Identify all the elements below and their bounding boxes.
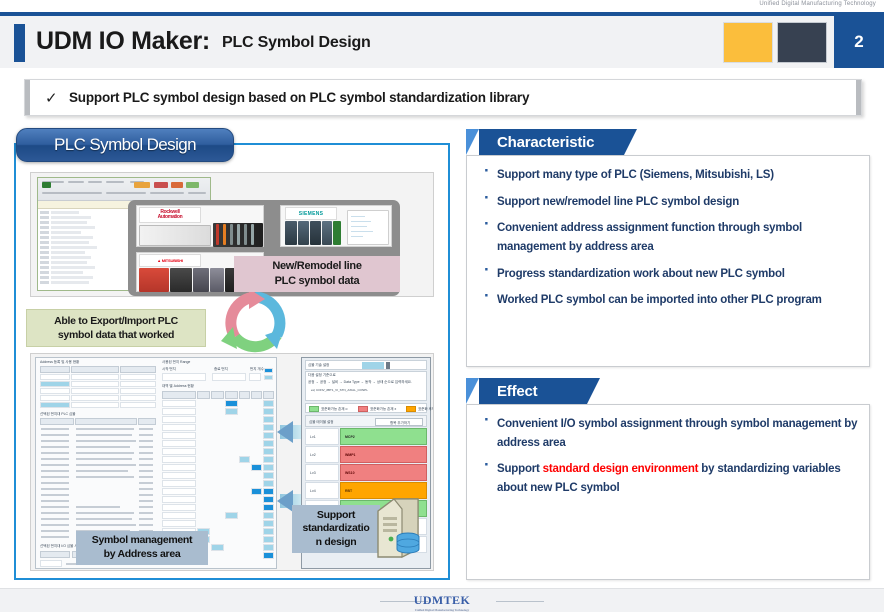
page-title: UDM IO Maker: (36, 27, 210, 56)
footer-logo-text: UDMTEK (414, 593, 470, 607)
check-icon: ✓ (45, 89, 58, 107)
std-row-1: MCP2 (340, 428, 427, 445)
callout-symbol-management-line2: by Address area (104, 548, 181, 562)
effect-item-2-highlight: standard design environment (543, 463, 699, 475)
corporate-tagline: Unified Digital Manufacturing Technology (759, 1, 876, 7)
effect-banner-body: Effect (479, 378, 587, 404)
rockwell-logo: RockwellAutomation (139, 207, 201, 223)
left-panel-badge: PLC Symbol Design (16, 128, 234, 162)
std-row-3: WS10 (340, 464, 427, 481)
characteristic-list: Support many type of PLC (Siemens, Mitsu… (481, 166, 859, 318)
callout-support-standardization: Support standardizatio n design (292, 505, 380, 553)
callout-export-import-line1: Able to Export/Import PLC (54, 314, 178, 328)
vendor-card-rockwell: RockwellAutomation (136, 205, 264, 247)
callout-export-import: Able to Export/Import PLC symbol data th… (26, 309, 206, 347)
left-panel-badge-label: PLC Symbol Design (54, 135, 196, 155)
server-database-icon (372, 497, 424, 559)
flow-arrow-1 (277, 421, 293, 443)
characteristic-item-3: Convenient address assignment function t… (481, 219, 859, 256)
characteristic-panel: Support many type of PLC (Siemens, Mitsu… (466, 155, 870, 367)
slide-root: Unified Digital Manufacturing Technology… (0, 0, 884, 612)
flow-arrow-2 (277, 490, 293, 512)
callout-support-std-line1: Support (317, 509, 355, 523)
summary-bar-text: Support PLC symbol design based on PLC s… (69, 90, 529, 105)
page-subtitle: PLC Symbol Design (222, 34, 371, 52)
footer-logo-subtext: Unified Digital Manufacturing Technology (414, 608, 470, 612)
effect-list: Convenient I/O symbol assignment through… (481, 415, 859, 506)
characteristic-title: Characteristic (497, 134, 594, 151)
summary-bar-left-edge (25, 80, 30, 115)
callout-support-std-line3: n design (316, 536, 357, 550)
vendor-card-siemens: SIEMENS (280, 205, 392, 247)
characteristic-item-2: Support new/remodel line PLC symbol desi… (481, 193, 859, 212)
excel-ribbon (38, 178, 210, 201)
slide-header: UDM IO Maker: PLC Symbol Design 2 (0, 16, 884, 68)
effect-banner-triangle (466, 378, 479, 404)
header-accent-bar (14, 24, 25, 62)
effect-title: Effect (497, 383, 537, 400)
effect-item-2: Support standard design environment by s… (481, 460, 859, 497)
std-row-2: WMP1 (340, 446, 427, 463)
page-number-badge: 2 (834, 16, 884, 68)
characteristic-item-4: Progress standardization work about new … (481, 265, 859, 284)
callout-new-remodel-line2: PLC symbol data (275, 274, 360, 289)
effect-panel: Convenient I/O symbol assignment through… (466, 404, 870, 580)
swatch-slate (777, 22, 827, 63)
callout-new-remodel-line1: New/Remodel line (272, 259, 361, 274)
callout-symbol-management: Symbol management by Address area (76, 531, 208, 565)
effect-item-2-pre: Support (497, 463, 543, 475)
characteristic-item-1: Support many type of PLC (Siemens, Mitsu… (481, 166, 859, 185)
recycle-arrows-icon (219, 287, 291, 359)
footer-rule-right (496, 601, 544, 602)
characteristic-banner-body: Characteristic (479, 129, 624, 155)
effect-item-1: Convenient I/O symbol assignment through… (481, 415, 859, 452)
characteristic-item-5: Worked PLC symbol can be imported into o… (481, 291, 859, 310)
callout-export-import-line2: symbol data that worked (58, 328, 174, 342)
swatch-orange (723, 22, 773, 63)
callout-new-remodel: New/Remodel line PLC symbol data (234, 256, 400, 292)
summary-bar-right-edge (856, 80, 861, 115)
callout-support-std-line2: standardizatio (303, 522, 370, 536)
siemens-logo: SIEMENS (285, 207, 337, 220)
callout-symbol-management-line1: Symbol management (92, 534, 193, 548)
slide-footer: UDMTEK Unified Digital Manufacturing Tec… (0, 588, 884, 612)
footer-logo: UDMTEK Unified Digital Manufacturing Tec… (414, 593, 470, 612)
page-number-label: 2 (854, 32, 863, 52)
mitsubishi-logo: ▲ MITSUBISHI (139, 254, 201, 267)
characteristic-banner-triangle (466, 129, 479, 155)
summary-bar: ✓ Support PLC symbol design based on PLC… (24, 79, 862, 116)
